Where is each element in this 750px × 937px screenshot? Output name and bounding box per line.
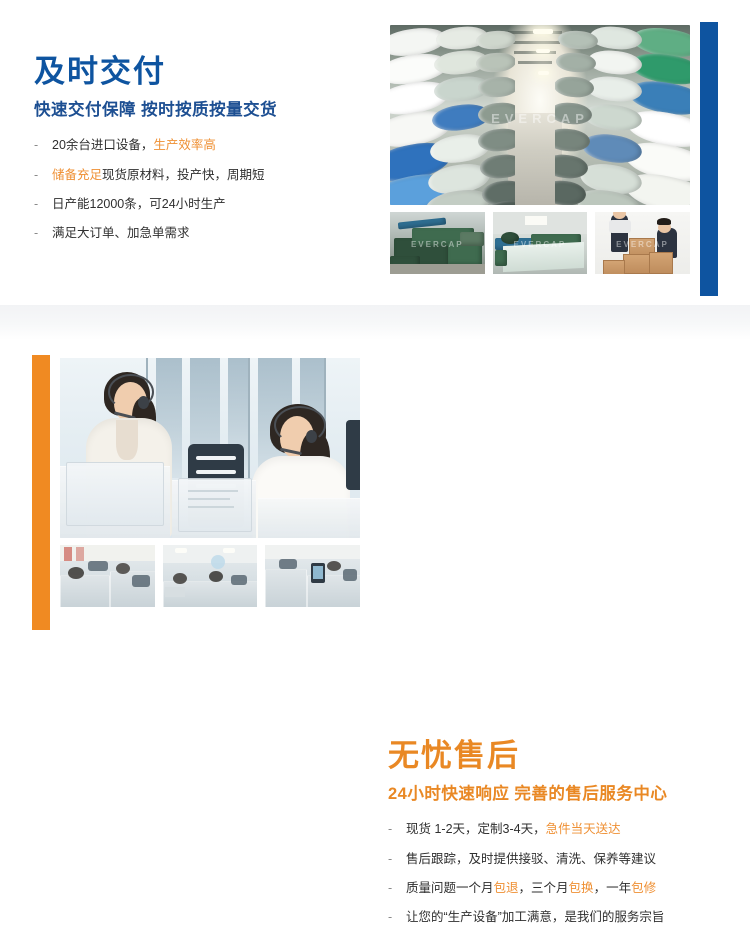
list-item: -满足大订单、加急单需求 (34, 224, 364, 242)
bullet-text-plain: 现货 1-2天，定制3-4天， (406, 822, 546, 836)
list-item: -现货 1-2天，定制3-4天，急件当天送达 (388, 820, 718, 838)
yarn-rack-left (390, 25, 515, 205)
after-sales-headline: 无忧售后 (388, 738, 718, 774)
bullet-dash: - (388, 908, 392, 926)
after-sales-accent-bar (32, 355, 50, 630)
bullet-text-plain: 满足大订单、加急单需求 (52, 226, 190, 240)
list-item: -20余台进口设备，生产效率高 (34, 136, 364, 154)
delivery-photo-group: EVERCAP EVERCAP (390, 25, 690, 274)
delivery-subheadline: 快速交付保障 按时按质按量交货 (34, 101, 364, 121)
after-sales-subheadline: 24小时快速响应 完善的售后服务中心 (388, 785, 718, 805)
bullet-text-plain: 质量问题一个月 (406, 881, 494, 895)
after-sales-hero-photo (60, 358, 360, 538)
list-item: -日产能12000条，可24小时生产 (34, 195, 364, 213)
delivery-bullet-list: -20余台进口设备，生产效率高 -储备充足现货原材料，投产快，周期短 -日产能1… (34, 136, 364, 242)
list-item: -储备充足现货原材料，投产快，周期短 (34, 166, 364, 184)
bullet-text-highlight: 储备充足 (52, 168, 102, 182)
after-sales-bullet-list: -现货 1-2天，定制3-4天，急件当天送达 -售后跟踪，及时提供接驳、清洗、保… (388, 820, 718, 926)
section-divider (0, 305, 750, 340)
section-delivery: 及时交付 快速交付保障 按时按质按量交货 -20余台进口设备，生产效率高 -储备… (0, 0, 750, 305)
delivery-headline: 及时交付 (34, 54, 364, 90)
bullet-dash: - (34, 136, 38, 154)
thumbnail-open-plan-office-row-2[interactable] (163, 545, 258, 607)
bullet-text-highlight: 包修 (631, 881, 656, 895)
section-after-sales: 无忧售后 24小时快速响应 完善的售后服务中心 -现货 1-2天，定制3-4天，… (0, 340, 750, 676)
after-sales-text-block: 无忧售后 24小时快速响应 完善的售后服务中心 -现货 1-2天，定制3-4天，… (388, 738, 718, 937)
aisle-floor (508, 113, 562, 205)
yarn-rack-right (555, 25, 690, 205)
thumbnail-open-plan-office-row-3[interactable] (265, 545, 360, 607)
marketing-banner-page: 及时交付 快速交付保障 按时按质按量交货 -20余台进口设备，生产效率高 -储备… (0, 0, 750, 676)
thumbnail-open-plan-office-row-1[interactable] (60, 545, 155, 607)
bullet-text-highlight: 包退 (494, 881, 519, 895)
bullet-text-plain: 售后跟踪，及时提供接驳、清洗、保养等建议 (406, 852, 656, 866)
bullet-text-highlight: 急件当天送达 (546, 822, 621, 836)
bullet-text-highlight: 包换 (569, 881, 594, 895)
bullet-text-plain: 现货原材料，投产快，周期短 (102, 168, 265, 182)
list-item: -售后跟踪，及时提供接驳、清洗、保养等建议 (388, 850, 718, 868)
delivery-accent-bar (700, 22, 718, 296)
delivery-thumbnail-row: EVERCAP EVERCAP (390, 212, 690, 274)
delivery-hero-photo: EVERCAP (390, 25, 690, 205)
list-item: -让您的“生产设备”加工满意，是我们的服务宗旨 (388, 908, 718, 926)
bullet-dash: - (388, 850, 392, 868)
delivery-text-block: 及时交付 快速交付保障 按时按质按量交货 -20余台进口设备，生产效率高 -储备… (34, 54, 364, 253)
bullet-dash: - (34, 166, 38, 184)
bullet-dash: - (388, 820, 392, 838)
after-sales-thumbnail-row (60, 545, 360, 607)
bullet-text-plain: ，三个月 (519, 881, 569, 895)
thumbnail-fabric-finishing-workshop[interactable]: EVERCAP (493, 212, 588, 274)
bullet-text-plain: 20余台进口设备， (52, 138, 153, 152)
bullet-text-plain: 日产能12000条，可24小时生产 (52, 197, 226, 211)
bullet-dash: - (388, 879, 392, 897)
after-sales-photo-group (60, 358, 360, 607)
bullet-text-plain: 让您的“生产设备”加工满意，是我们的服务宗旨 (406, 910, 664, 924)
bullet-text-highlight: 生产效率高 (153, 138, 216, 152)
bullet-text-plain: ，一年 (594, 881, 632, 895)
bullet-dash: - (34, 224, 38, 242)
thumbnail-dyeing-machine-line[interactable]: EVERCAP (390, 212, 485, 274)
bullet-dash: - (34, 195, 38, 213)
thumbnail-workers-packing-cartons[interactable]: EVERCAP (595, 212, 690, 274)
list-item: -质量问题一个月包退，三个月包换，一年包修 (388, 879, 718, 897)
